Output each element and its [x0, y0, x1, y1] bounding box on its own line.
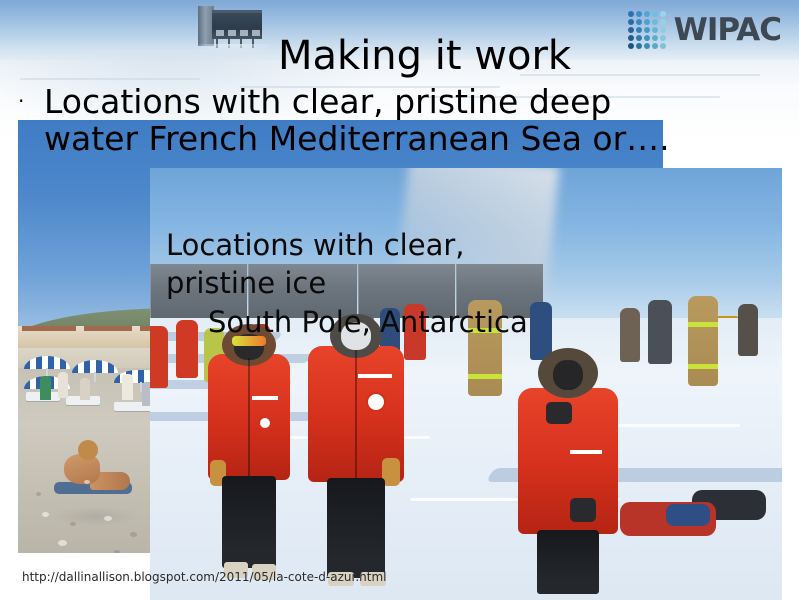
wipac-wordmark: WIPAC — [674, 15, 781, 46]
person-red-parka — [208, 324, 290, 582]
pebble — [84, 480, 90, 484]
background-person — [648, 300, 672, 364]
beachgoer — [58, 372, 68, 398]
person-in-tan-gear — [688, 296, 718, 386]
pebble — [58, 540, 67, 546]
pebble — [42, 512, 49, 517]
bullet-line-2: water French Mediterranean Sea or…. — [44, 121, 718, 158]
jacket-zipper — [248, 358, 250, 476]
wipac-logo-dot — [644, 35, 650, 41]
glove — [570, 498, 596, 522]
icecube-lab-building — [186, 4, 264, 48]
jacket-stripe — [570, 450, 602, 454]
pebble — [70, 522, 76, 526]
gear-bag — [666, 504, 710, 526]
beachgoer — [40, 376, 51, 400]
pebble — [130, 532, 137, 537]
wipac-logo: WIPAC — [628, 10, 781, 50]
person-red-parka — [518, 348, 618, 600]
snow-streak — [20, 78, 200, 80]
overlay-line-3: South Pole, Antarctica — [208, 303, 528, 341]
wipac-logo-dot — [628, 19, 634, 25]
beachgoer — [80, 378, 90, 400]
bullet-marker: · — [18, 84, 44, 118]
wipac-logo-dot — [636, 11, 642, 17]
background-person — [620, 308, 640, 362]
jacket-stripe — [252, 396, 278, 400]
snow-pants — [222, 476, 276, 568]
sunbather — [54, 438, 128, 500]
icecube-lab-snow-base — [194, 44, 274, 54]
face — [553, 360, 583, 390]
glove — [546, 402, 572, 424]
wipac-logo-dot — [628, 11, 634, 17]
gear-pile — [620, 488, 770, 540]
jacket-patch — [258, 416, 272, 430]
wipac-logo-dot — [660, 19, 666, 25]
wipac-logo-dot — [660, 35, 666, 41]
bullet-list: · Locations with clear, pristine deep wa… — [18, 84, 718, 158]
umbrella-pole — [94, 372, 96, 382]
overlay-line-2: pristine ice — [166, 264, 528, 302]
icecube-lab-window — [228, 30, 236, 36]
bullet-line-1: Locations with clear, pristine deep — [44, 84, 718, 121]
snow-pants — [327, 478, 385, 578]
jacket-zipper — [355, 350, 357, 478]
wipac-logo-dot — [644, 11, 650, 17]
source-url-credit[interactable]: http://dallinallison.blogspot.com/2011/0… — [22, 570, 386, 584]
wipac-dot-matrix-icon — [628, 11, 666, 49]
snow-pants — [537, 530, 599, 594]
background-person — [738, 304, 758, 356]
overlay-line-1: Locations with clear, — [166, 226, 528, 264]
wipac-logo-dot — [652, 11, 658, 17]
pebble — [36, 492, 41, 496]
slide-title: Making it work — [278, 33, 571, 79]
wipac-logo-dot — [636, 35, 642, 41]
beachgoer — [122, 374, 133, 400]
wipac-logo-dot — [660, 27, 666, 33]
wipac-logo-dot — [636, 43, 642, 49]
reflective-stripe — [688, 364, 718, 369]
wipac-logo-dot — [652, 43, 658, 49]
icecube-lab-window — [216, 30, 224, 36]
wipac-logo-dot — [660, 11, 666, 17]
wipac-logo-dot — [628, 35, 634, 41]
overlay-caption: Locations with clear, pristine ice South… — [166, 226, 528, 341]
wipac-logo-dot — [652, 19, 658, 25]
icecube-lab-window — [240, 30, 248, 36]
jacket-stripe — [358, 374, 392, 378]
wipac-logo-dot — [660, 43, 666, 49]
wipac-logo-dot — [628, 27, 634, 33]
slide-canvas: WIPAC Making it work — [0, 0, 799, 600]
wipac-logo-dot — [636, 27, 642, 33]
jacket-patch — [366, 392, 386, 412]
wipac-logo-dot — [644, 43, 650, 49]
reflective-stripe — [468, 374, 502, 379]
wipac-logo-dot — [644, 19, 650, 25]
wipac-logo-dot — [628, 43, 634, 49]
sunbather-head — [78, 440, 98, 460]
wipac-logo-dot — [636, 19, 642, 25]
building-roof — [22, 326, 76, 331]
reflective-stripe — [688, 322, 718, 327]
pebble — [114, 550, 120, 553]
building-roof — [84, 326, 132, 331]
icecube-lab-window — [252, 30, 260, 36]
wipac-logo-dot — [652, 27, 658, 33]
bullet-item: · Locations with clear, pristine deep — [18, 84, 718, 121]
wipac-logo-dot — [644, 27, 650, 33]
pebble — [104, 516, 112, 521]
wipac-logo-dot — [652, 35, 658, 41]
person-red-parka — [308, 314, 404, 584]
